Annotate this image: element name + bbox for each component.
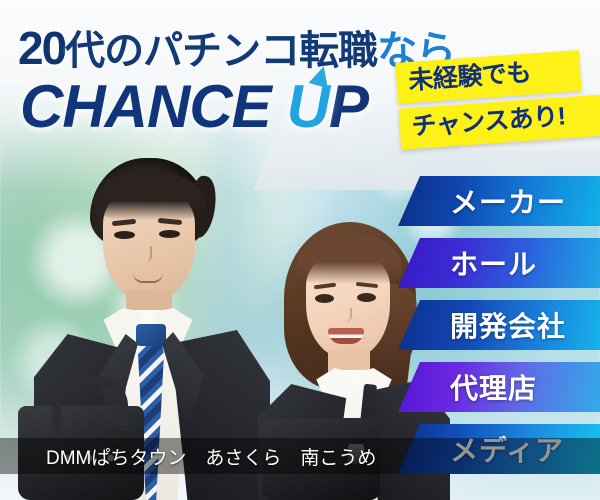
- logo-letter-u: U: [287, 72, 329, 141]
- male-eye-right: [159, 230, 180, 238]
- male-eye-left: [114, 231, 135, 239]
- credit-caption-text: DMMぱちタウン あさくら 南こうめ: [46, 443, 376, 470]
- recruitment-banner: 20代のパチンコ転職なら CHANCEUP 未経験でも チャンスあり! メーカー…: [0, 0, 600, 500]
- male-nose: [141, 246, 152, 262]
- chance-up-logo: CHANCEUP: [20, 72, 368, 141]
- female-eye-left: [315, 294, 334, 303]
- category-label: ホール: [450, 243, 537, 283]
- logo-letter-p: P: [329, 73, 368, 140]
- page-title: 20代のパチンコ転職なら: [18, 18, 455, 76]
- male-necktie-knot: [136, 324, 166, 346]
- category-bar-development[interactable]: 開発会社: [398, 300, 600, 350]
- credit-caption-bar: DMMぱちタウン あさくら 南こうめ: [0, 438, 600, 474]
- headline-main-text: 代のパチンコ転職: [65, 29, 377, 73]
- category-label: メーカー: [450, 181, 566, 221]
- female-nose: [342, 308, 352, 322]
- status-badge: 未経験でも チャンスあり!: [395, 49, 597, 149]
- female-eye-right: [357, 293, 376, 302]
- category-bar-maker[interactable]: メーカー: [398, 176, 600, 226]
- briefcase-left-handle: [52, 376, 128, 431]
- category-bar-hall[interactable]: ホール: [398, 238, 600, 288]
- category-label: 開発会社: [450, 305, 566, 345]
- category-label: 代理店: [450, 367, 537, 407]
- category-bar-agency[interactable]: 代理店: [398, 362, 600, 412]
- logo-word-chance: CHANCE: [20, 73, 271, 140]
- headline-number: 20: [18, 22, 65, 74]
